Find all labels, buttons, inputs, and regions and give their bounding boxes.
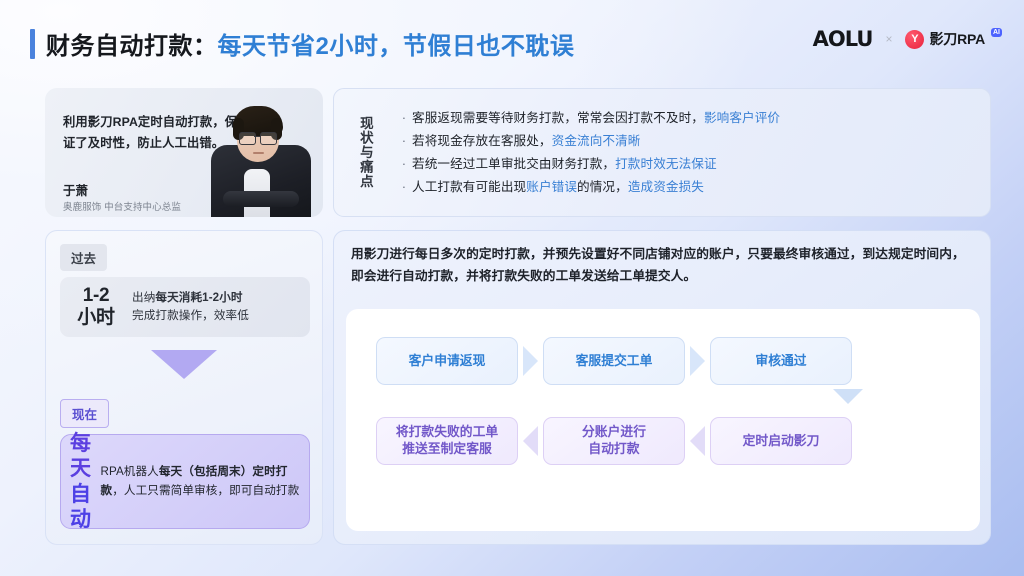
now-metric-desc: RPA机器人每天（包括周末）定时打款，人工只需简单审核，即可自动打款 (101, 463, 310, 501)
list-item: · 人工打款有可能出现账户错误的情况，造成资金损失 (396, 179, 976, 195)
pain-highlight-2: 造成资金损失 (628, 180, 704, 194)
past-desc-line2: 完成打款操作，效率低 (132, 307, 249, 325)
arrow-right-icon (518, 346, 543, 376)
pain-item-text: 客服返现需要等待财务打款，常常会因打款不及时，影响客户评价 (412, 110, 780, 126)
brand-separator-icon: × (885, 32, 892, 46)
person-portrait-photo (205, 88, 317, 217)
slide-root: 财务自动打款：每天节省2小时，节假日也不耽误 AOLU × Y 影刀RPA AI… (0, 0, 1024, 576)
title-main: 财务自动打款： (46, 33, 218, 60)
now-metric-box: 每天 自动 RPA机器人每天（包括周末）定时打款，人工只需简单审核，即可自动打款 (60, 434, 310, 529)
arrow-left-icon (518, 426, 543, 456)
testimonial-card: 利用影刀RPA定时自动打款，保证了及时性，防止人工出错。 于萧 奥鹿服饰 中台支… (45, 88, 323, 217)
pain-points-card: 现状与痛点 · 客服返现需要等待财务打款，常常会因打款不及时，影响客户评价 · … (333, 88, 991, 217)
aolu-logo: AOLU (813, 27, 873, 51)
portrait-glasses-left (239, 132, 256, 145)
list-item: · 若统一经过工单审批交由财务打款，打款时效无法保证 (396, 156, 976, 172)
pain-item-text: 若将现金存放在客服处，资金流向不清晰 (412, 133, 641, 149)
arrow-left-icon (685, 426, 710, 456)
portrait-arms (223, 191, 299, 207)
yingdao-mark-icon: Y (905, 30, 924, 49)
yingdao-logo: Y 影刀RPA AI (905, 29, 1002, 49)
list-item: · 若将现金存放在客服处，资金流向不清晰 (396, 133, 976, 149)
past-metric-value: 1-2 小时 (60, 285, 132, 330)
process-flow-diagram: 客户申请返现 客服提交工单 审核通过 将打款失败的工单推送至制定客服 分账户进行… (346, 309, 980, 531)
pain-highlight: 资金流向不清晰 (552, 134, 641, 148)
portrait-glasses-right (260, 132, 277, 145)
pain-item-text: 若统一经过工单审批交由财务打款，打款时效无法保证 (412, 156, 717, 172)
flow-node-1: 客户申请返现 (376, 337, 518, 385)
past-metric-line1: 1-2 (60, 285, 132, 307)
ai-badge: AI (991, 28, 1002, 37)
slide-header: 财务自动打款：每天节省2小时，节假日也不耽误 AOLU × Y 影刀RPA AI (0, 0, 1024, 80)
now-metric-line2: 自动 (61, 482, 101, 532)
title-text: 财务自动打款：每天节省2小时，节假日也不耽误 (46, 26, 574, 61)
bullet-icon: · (396, 156, 412, 172)
pain-points-label-text: 现状与痛点 (355, 116, 375, 189)
pain-highlight: 影响客户评价 (704, 111, 780, 125)
chevron-down-icon (151, 350, 217, 379)
chevron-down-icon-flow (833, 389, 863, 404)
past-metric-desc: 出纳每天消耗1-2小时 完成打款操作，效率低 (132, 289, 249, 325)
title-accent: 每天节省2小时，节假日也不耽误 (218, 33, 575, 60)
flow-node-6: 将打款失败的工单推送至制定客服 (376, 417, 518, 465)
past-metric-line2: 小时 (60, 307, 132, 329)
flow-row-bottom: 将打款失败的工单推送至制定客服 分账户进行自动打款 定时启动影刀 (376, 417, 852, 465)
flow-row-top: 客户申请返现 客服提交工单 审核通过 (376, 337, 852, 385)
pain-highlight: 账户错误 (526, 180, 577, 194)
page-title: 财务自动打款：每天节省2小时，节假日也不耽误 (30, 26, 574, 61)
bullet-icon: · (396, 110, 412, 126)
now-metric-value: 每天 自动 (61, 431, 101, 532)
flow-node-4: 定时启动影刀 (710, 417, 852, 465)
past-desc-line1: 出纳每天消耗1-2小时 (132, 289, 249, 307)
title-accent-bar (30, 29, 35, 59)
portrait-mouth (253, 152, 264, 154)
arrow-right-icon (685, 346, 710, 376)
flow-node-5: 分账户进行自动打款 (543, 417, 685, 465)
testimonial-name: 于萧 (63, 180, 88, 199)
bullet-icon: · (396, 179, 412, 195)
brand-lockup: AOLU × Y 影刀RPA AI (813, 27, 1002, 51)
pain-item-text: 人工打款有可能出现账户错误的情况，造成资金损失 (412, 179, 704, 195)
now-metric-line1: 每天 (61, 431, 101, 481)
pain-points-list: · 客服返现需要等待财务打款，常常会因打款不及时，影响客户评价 · 若将现金存放… (396, 104, 990, 202)
solution-panel: 用影刀进行每日多次的定时打款，并预先设置好不同店铺对应的账户，只要最终审核通过，… (333, 230, 991, 545)
portrait-glasses-bridge (254, 136, 260, 137)
past-metric-box: 1-2 小时 出纳每天消耗1-2小时 完成打款操作，效率低 (60, 277, 310, 337)
pain-highlight: 打款时效无法保证 (615, 157, 717, 171)
yingdao-wordmark: 影刀RPA (929, 29, 985, 49)
before-after-panel: 过去 1-2 小时 出纳每天消耗1-2小时 完成打款操作，效率低 现在 每天 自… (45, 230, 323, 545)
flow-node-2: 客服提交工单 (543, 337, 685, 385)
now-tag: 现在 (60, 399, 109, 428)
list-item: · 客服返现需要等待财务打款，常常会因打款不及时，影响客户评价 (396, 110, 976, 126)
bullet-icon: · (396, 133, 412, 149)
past-tag: 过去 (60, 244, 107, 271)
solution-intro-text: 用影刀进行每日多次的定时打款，并预先设置好不同店铺对应的账户，只要最终审核通过，… (351, 244, 973, 288)
testimonial-role: 奥鹿服饰 中台支持中心总监 (63, 199, 181, 213)
pain-points-label: 现状与痛点 (334, 116, 396, 189)
flow-node-3: 审核通过 (710, 337, 852, 385)
